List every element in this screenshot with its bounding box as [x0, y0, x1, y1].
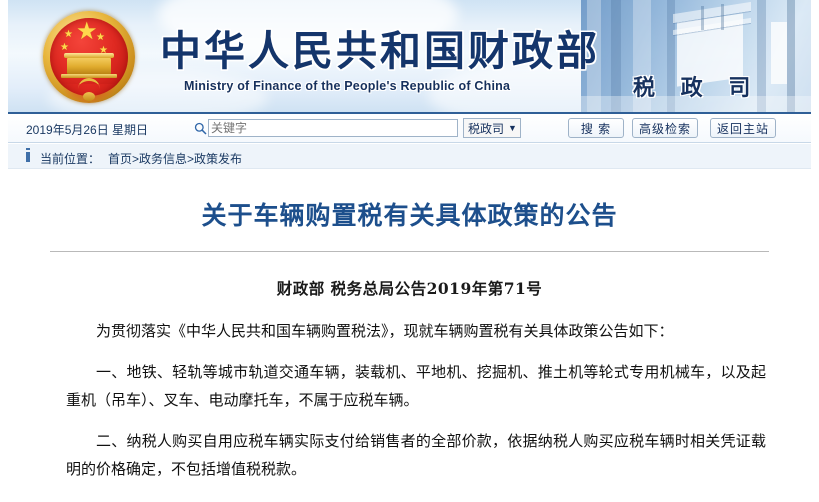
breadcrumb-label: 当前位置：	[40, 150, 100, 167]
search-input[interactable]	[208, 119, 458, 137]
search-button[interactable]: 搜 索	[568, 118, 624, 138]
department-title: 税 政 司	[633, 70, 759, 102]
site-title-cn: 中华人民共和国财政部	[160, 17, 600, 77]
advanced-search-button[interactable]: 高级检索	[632, 118, 698, 138]
search-toolbar: 2019年5月26日 星期日 税政司 ▼ 搜 索 高级检索 返回主站	[8, 114, 811, 143]
document-number: 财政部 税务总局公告2019年第71号	[8, 277, 811, 299]
breadcrumb-path[interactable]: 首页>政务信息>政策发布	[108, 150, 242, 167]
site-title-en: Ministry of Finance of the People's Repu…	[184, 79, 510, 93]
search-magnifier-icon	[194, 122, 207, 135]
china-national-emblem-icon: ★ ★ ★ ★ ★	[40, 8, 138, 106]
title-divider	[50, 251, 769, 252]
paragraph: 为贯彻落实《中华人民共和国车辆购置税法》，现就车辆购置税有关具体政策公告如下：	[66, 317, 766, 345]
breadcrumb: 当前位置： 首页>政务信息>政策发布	[8, 144, 811, 169]
search-scope-value: 税政司	[468, 120, 504, 137]
return-home-button[interactable]: 返回主站	[710, 118, 776, 138]
page-root: ★ ★ ★ ★ ★ 中华人民共和国财政部 Ministry of Finance…	[0, 0, 819, 502]
current-date-label: 2019年5月26日 星期日	[26, 121, 148, 138]
site-banner: ★ ★ ★ ★ ★ 中华人民共和国财政部 Ministry of Finance…	[8, 0, 811, 114]
paragraph: 二、纳税人购买自用应税车辆实际支付给销售者的全部价款，依据纳税人购买应税车辆时相…	[66, 427, 766, 483]
document-body: 为贯彻落实《中华人民共和国车辆购置税法》，现就车辆购置税有关具体政策公告如下： …	[66, 317, 766, 496]
paragraph: 一、地铁、轻轨等城市轨道交通车辆，装载机、平地机、挖掘机、推土机等轮式专用机械车…	[66, 358, 766, 414]
breadcrumb-marker-icon	[26, 152, 30, 162]
document-content: 关于车辆购置税有关具体政策的公告 财政部 税务总局公告2019年第71号 为贯彻…	[8, 169, 811, 502]
page-title: 关于车辆购置税有关具体政策的公告	[8, 196, 811, 232]
chevron-down-icon: ▼	[508, 123, 517, 133]
search-scope-select[interactable]: 税政司 ▼	[463, 118, 521, 138]
